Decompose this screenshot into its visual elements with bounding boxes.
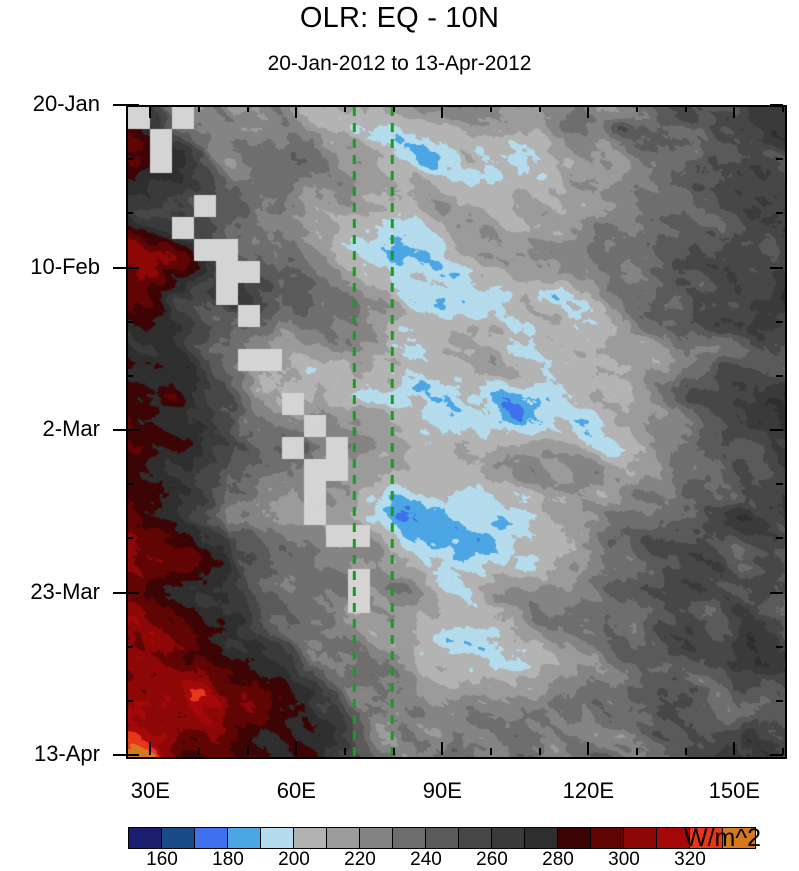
- colorbar-tick-label: 160: [146, 849, 178, 871]
- y-axis-tick-label: 23-Mar: [30, 579, 100, 605]
- date-range-subtitle: 20-Jan-2012 to 13-Apr-2012: [0, 52, 799, 76]
- colorbar-tick-label: 280: [542, 849, 574, 871]
- y-axis-tick-label: 13-Apr: [34, 741, 100, 767]
- x-axis-tick-label: 120E: [563, 778, 614, 804]
- colorbar-tick-label: 260: [476, 849, 508, 871]
- colorbar-swatch: [623, 828, 656, 848]
- y-axis-tick-label: 20-Jan: [33, 91, 100, 117]
- x-axis-labels: 30E60E90E120E150E: [126, 778, 783, 808]
- colorbar-swatch: [260, 828, 293, 848]
- colorbar-swatch: [359, 828, 392, 848]
- colorbar-tick-label: 240: [410, 849, 442, 871]
- colorbar-swatch: [161, 828, 194, 848]
- colorbar-swatch: [326, 828, 359, 848]
- y-axis-tick-label: 2-Mar: [43, 416, 100, 442]
- colorbar-swatch: [392, 828, 425, 848]
- annotation-overlay: [128, 107, 785, 757]
- hovmoller-plot-area: [126, 105, 787, 759]
- x-axis-tick-label: 30E: [131, 778, 170, 804]
- colorbar-swatch: [458, 828, 491, 848]
- x-axis-tick-label: 60E: [277, 778, 316, 804]
- colorbar: [128, 827, 756, 849]
- colorbar-tick-label: 200: [278, 849, 310, 871]
- colorbar-swatch: [491, 828, 524, 848]
- colorbar-swatch: [557, 828, 590, 848]
- colorbar-tick-label: 220: [344, 849, 376, 871]
- page-title: OLR: EQ - 10N: [0, 2, 799, 35]
- colorbar-swatch: [590, 828, 623, 848]
- colorbar-tick-label: 300: [608, 849, 640, 871]
- colorbar-swatch: [425, 828, 458, 848]
- colorbar-swatch: [129, 828, 161, 848]
- colorbar-units-label: W/m^2: [684, 824, 761, 853]
- colorbar-swatch: [293, 828, 326, 848]
- y-axis-tick-label: 10-Feb: [30, 254, 100, 280]
- colorbar-tick-labels: 160180200220240260280300320: [0, 849, 799, 871]
- y-axis-labels: 20-Jan10-Feb2-Mar23-Mar13-Apr: [0, 105, 116, 755]
- x-axis-tick-label: 150E: [709, 778, 760, 804]
- colorbar-tick-label: 180: [212, 849, 244, 871]
- colorbar-swatch: [227, 828, 260, 848]
- x-axis-tick-label: 90E: [423, 778, 462, 804]
- colorbar-swatch: [524, 828, 557, 848]
- colorbar-swatch: [194, 828, 227, 848]
